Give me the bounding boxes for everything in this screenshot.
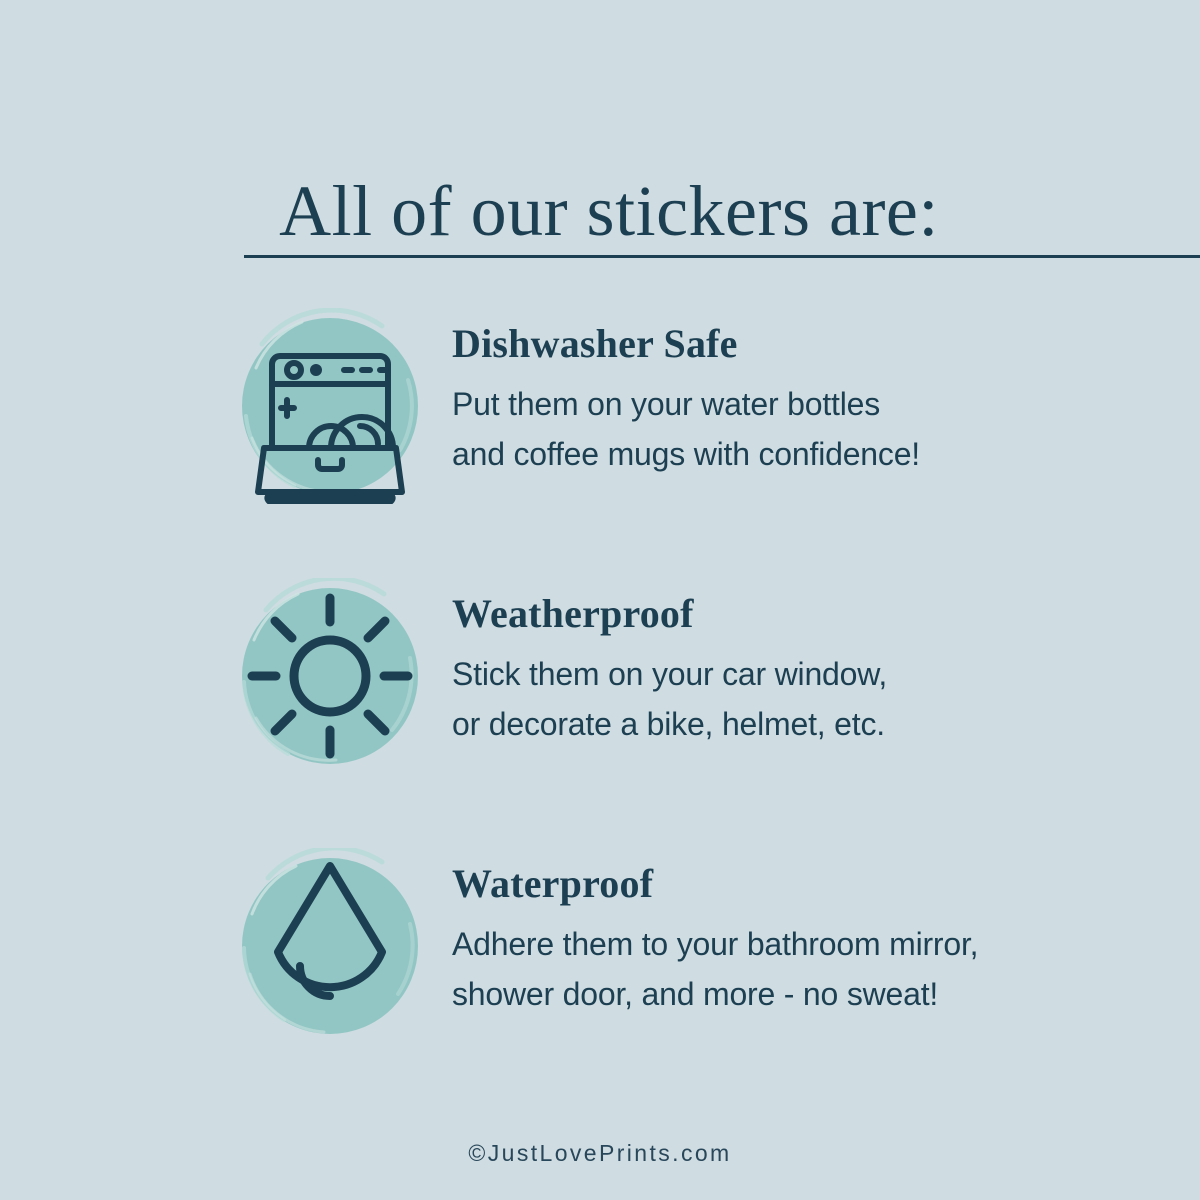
feature-row-dishwasher-safe: Dishwasher Safe Put them on your water b… (232, 308, 1182, 504)
feature-title: Waterproof (452, 862, 978, 906)
title-divider (244, 255, 1200, 258)
feature-text-block: Dishwasher Safe Put them on your water b… (452, 308, 920, 479)
sun-icon (232, 578, 428, 774)
dishwasher-icon (232, 308, 428, 504)
feature-title: Weatherproof (452, 592, 887, 636)
feature-description: Put them on your water bottles and coffe… (452, 380, 920, 479)
feature-text-block: Weatherproof Stick them on your car wind… (452, 578, 887, 749)
brush-circle-backdrop (242, 848, 418, 1034)
feature-description: Adhere them to your bathroom mirror, sho… (452, 920, 978, 1019)
feature-row-weatherproof: Weatherproof Stick them on your car wind… (232, 578, 1182, 774)
feature-text-block: Waterproof Adhere them to your bathroom … (452, 848, 978, 1019)
footer-credit: ©JustLovePrints.com (0, 1140, 1200, 1167)
poster-canvas: All of our stickers are: (0, 0, 1200, 1200)
feature-title: Dishwasher Safe (452, 322, 920, 366)
water-drop-icon (232, 848, 428, 1044)
feature-row-waterproof: Waterproof Adhere them to your bathroom … (232, 848, 1182, 1044)
feature-description: Stick them on your car window, or decora… (452, 650, 887, 749)
page-title: All of our stickers are: (244, 174, 974, 250)
